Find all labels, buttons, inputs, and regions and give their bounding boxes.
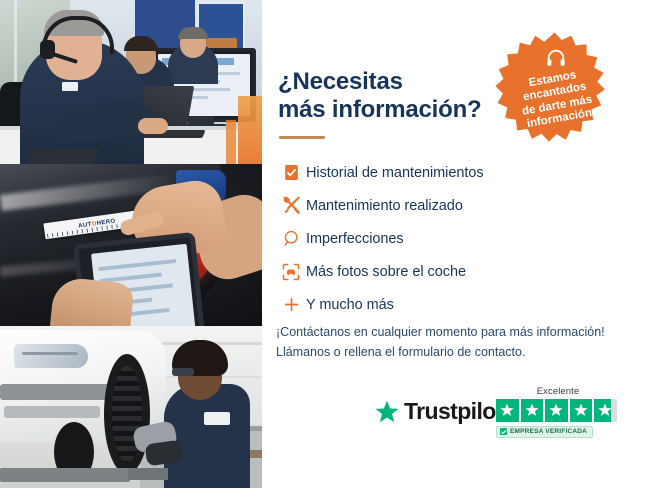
title-divider [279,136,325,139]
contact-paragraph: ¡Contáctanos en cualquier momento para m… [276,322,636,363]
feature-label: Historial de mantenimientos [306,165,484,181]
uniform-logo-patch [204,412,230,425]
trustpilot-star-icon [374,399,400,425]
trustpilot-rating: Excelente [496,386,620,440]
contact-paragraph-line-2: Llámanos o rellena el formulario de cont… [276,342,636,362]
feature-item-mantenimiento[interactable]: Mantenimiento realizado [276,190,596,221]
star-3 [545,399,568,422]
star-1 [496,399,519,422]
trustpilot-wordmark: Trustpilot [404,398,503,425]
feature-item-historial[interactable]: Historial de mantenimientos [276,157,596,188]
safety-glasses [172,368,194,376]
feature-item-fotos[interactable]: Más fotos sobre el coche [276,256,596,287]
photo-strip: AUTOHERO [0,0,262,488]
feature-item-mucho-mas[interactable]: Y mucho más [276,289,596,320]
agent-name-badge [62,82,78,91]
ruler-brand-part3: HERO [96,218,116,227]
mechanic-body [164,384,250,488]
promo-burst-badge: Estamos encantados de darte más informac… [495,31,614,150]
clipboard-check-icon [276,160,306,186]
trustpilot-star-row [496,399,620,422]
feature-list: Historial de mantenimientos Mantenimient… [276,157,596,322]
car-lift-arm [0,468,130,482]
trustpilot-logo[interactable]: Trustpilot [374,398,503,425]
orange-shelf-accent [226,120,236,164]
car-grille [0,384,110,400]
info-card: AUTOHERO [0,0,650,488]
tablet-row [98,259,176,271]
trustpilot-rating-label: Excelente [496,386,620,397]
feature-label: Más fotos sobre el coche [306,264,466,280]
trustpilot-block[interactable]: Trustpilot Excelente [374,386,636,448]
page-title: ¿Necesitas más información? [278,68,528,125]
feature-item-imperfecciones[interactable]: Imperfecciones [276,223,596,254]
mechanic-wheel-photo [0,326,262,488]
car-lift-base [128,468,168,480]
verified-company-badge: EMPRESA VERIFICADA [496,426,593,438]
camera-focus-car-icon [276,259,306,285]
page-title-line-2: más información? [278,96,482,123]
car-headlight [14,344,88,368]
star-2 [521,399,544,422]
feature-label: Y mucho más [306,297,394,313]
star-5-partial [594,399,617,422]
burst-badge-text: Estamos encantados de darte más informac… [486,22,624,160]
car-lower-grille [4,406,100,418]
background-person-3-hair [178,27,208,39]
orange-shelf-right [238,96,262,164]
agent-hand [138,118,168,134]
content-panel: ¿Necesitas más información? Estamos enca… [262,0,650,488]
contact-paragraph-line-1: ¡Contáctanos en cualquier momento para m… [276,322,636,342]
tools-wrench-screwdriver-icon [276,193,306,219]
headlight-detail [22,352,78,355]
star-4 [570,399,593,422]
call-center-agents-photo [0,0,262,164]
verified-company-label: EMPRESA VERIFICADA [510,428,587,435]
page-title-line-1: ¿Necesitas [278,68,403,95]
car-inspection-ruler-photo: AUTOHERO [0,164,262,326]
feature-label: Imperfecciones [306,231,404,247]
verified-check-icon [500,428,507,435]
desk-tablet [27,148,99,164]
plus-icon [276,292,306,318]
ruler-brand-part1: AUT [78,222,92,230]
feature-label: Mantenimiento realizado [306,198,463,214]
magnifier-icon [276,226,306,252]
